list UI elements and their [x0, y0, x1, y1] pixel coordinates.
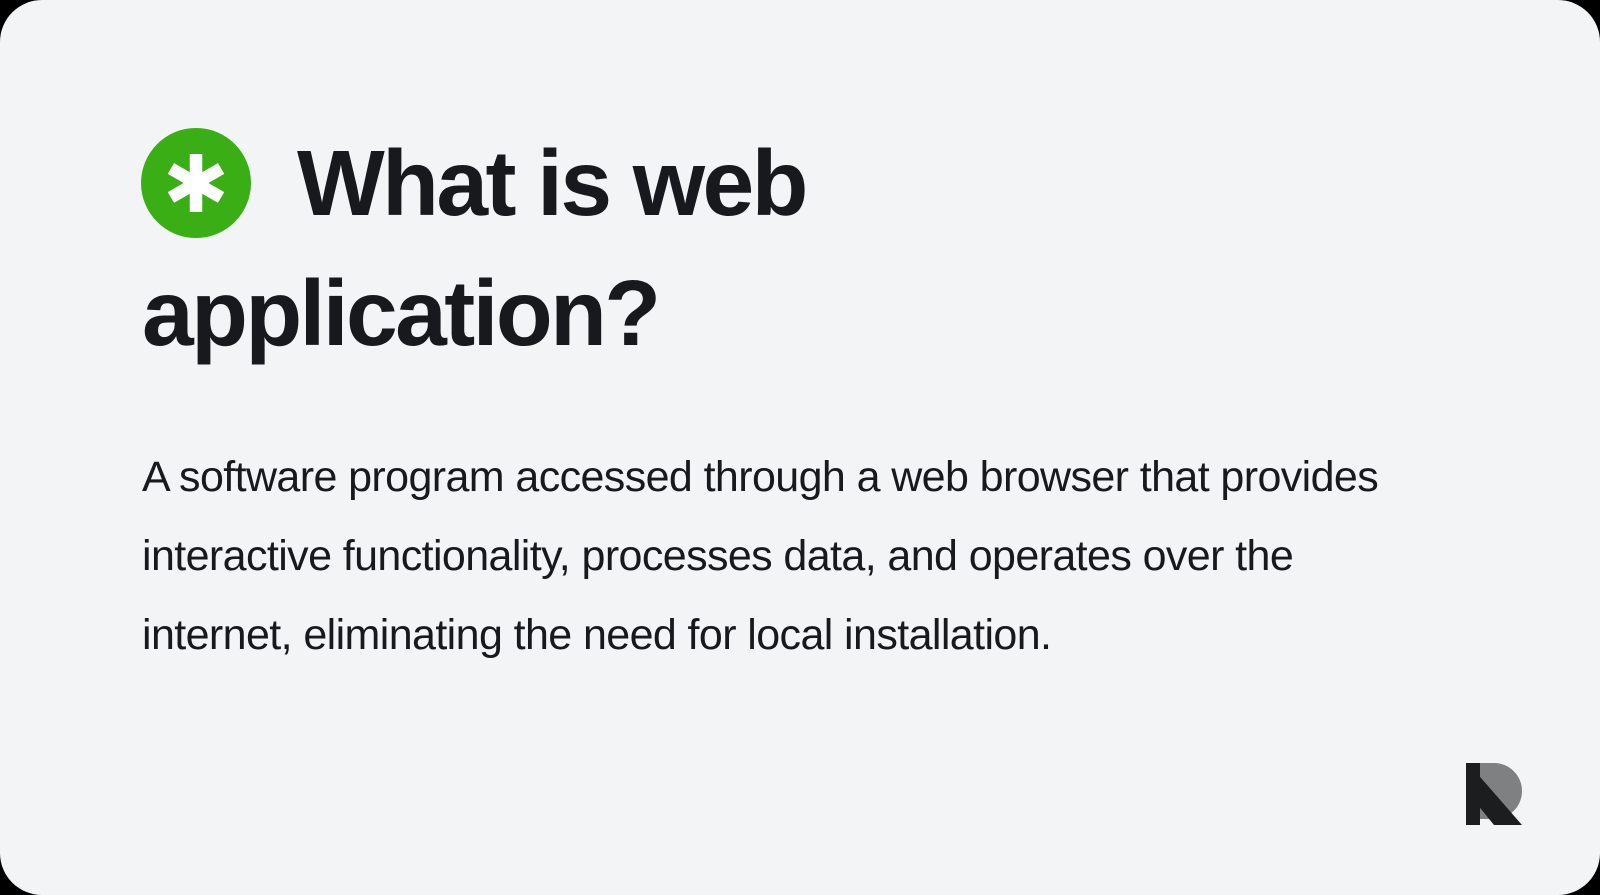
description-text: A software program accessed through a we…: [142, 438, 1402, 675]
content-card: What is web application? A software prog…: [0, 0, 1600, 895]
page-title: What is web application?: [142, 118, 942, 378]
content-container: What is web application? A software prog…: [142, 118, 1442, 675]
asterisk-icon: [141, 128, 251, 238]
r-logo: [1466, 763, 1522, 825]
heading-block: What is web application?: [142, 118, 962, 378]
